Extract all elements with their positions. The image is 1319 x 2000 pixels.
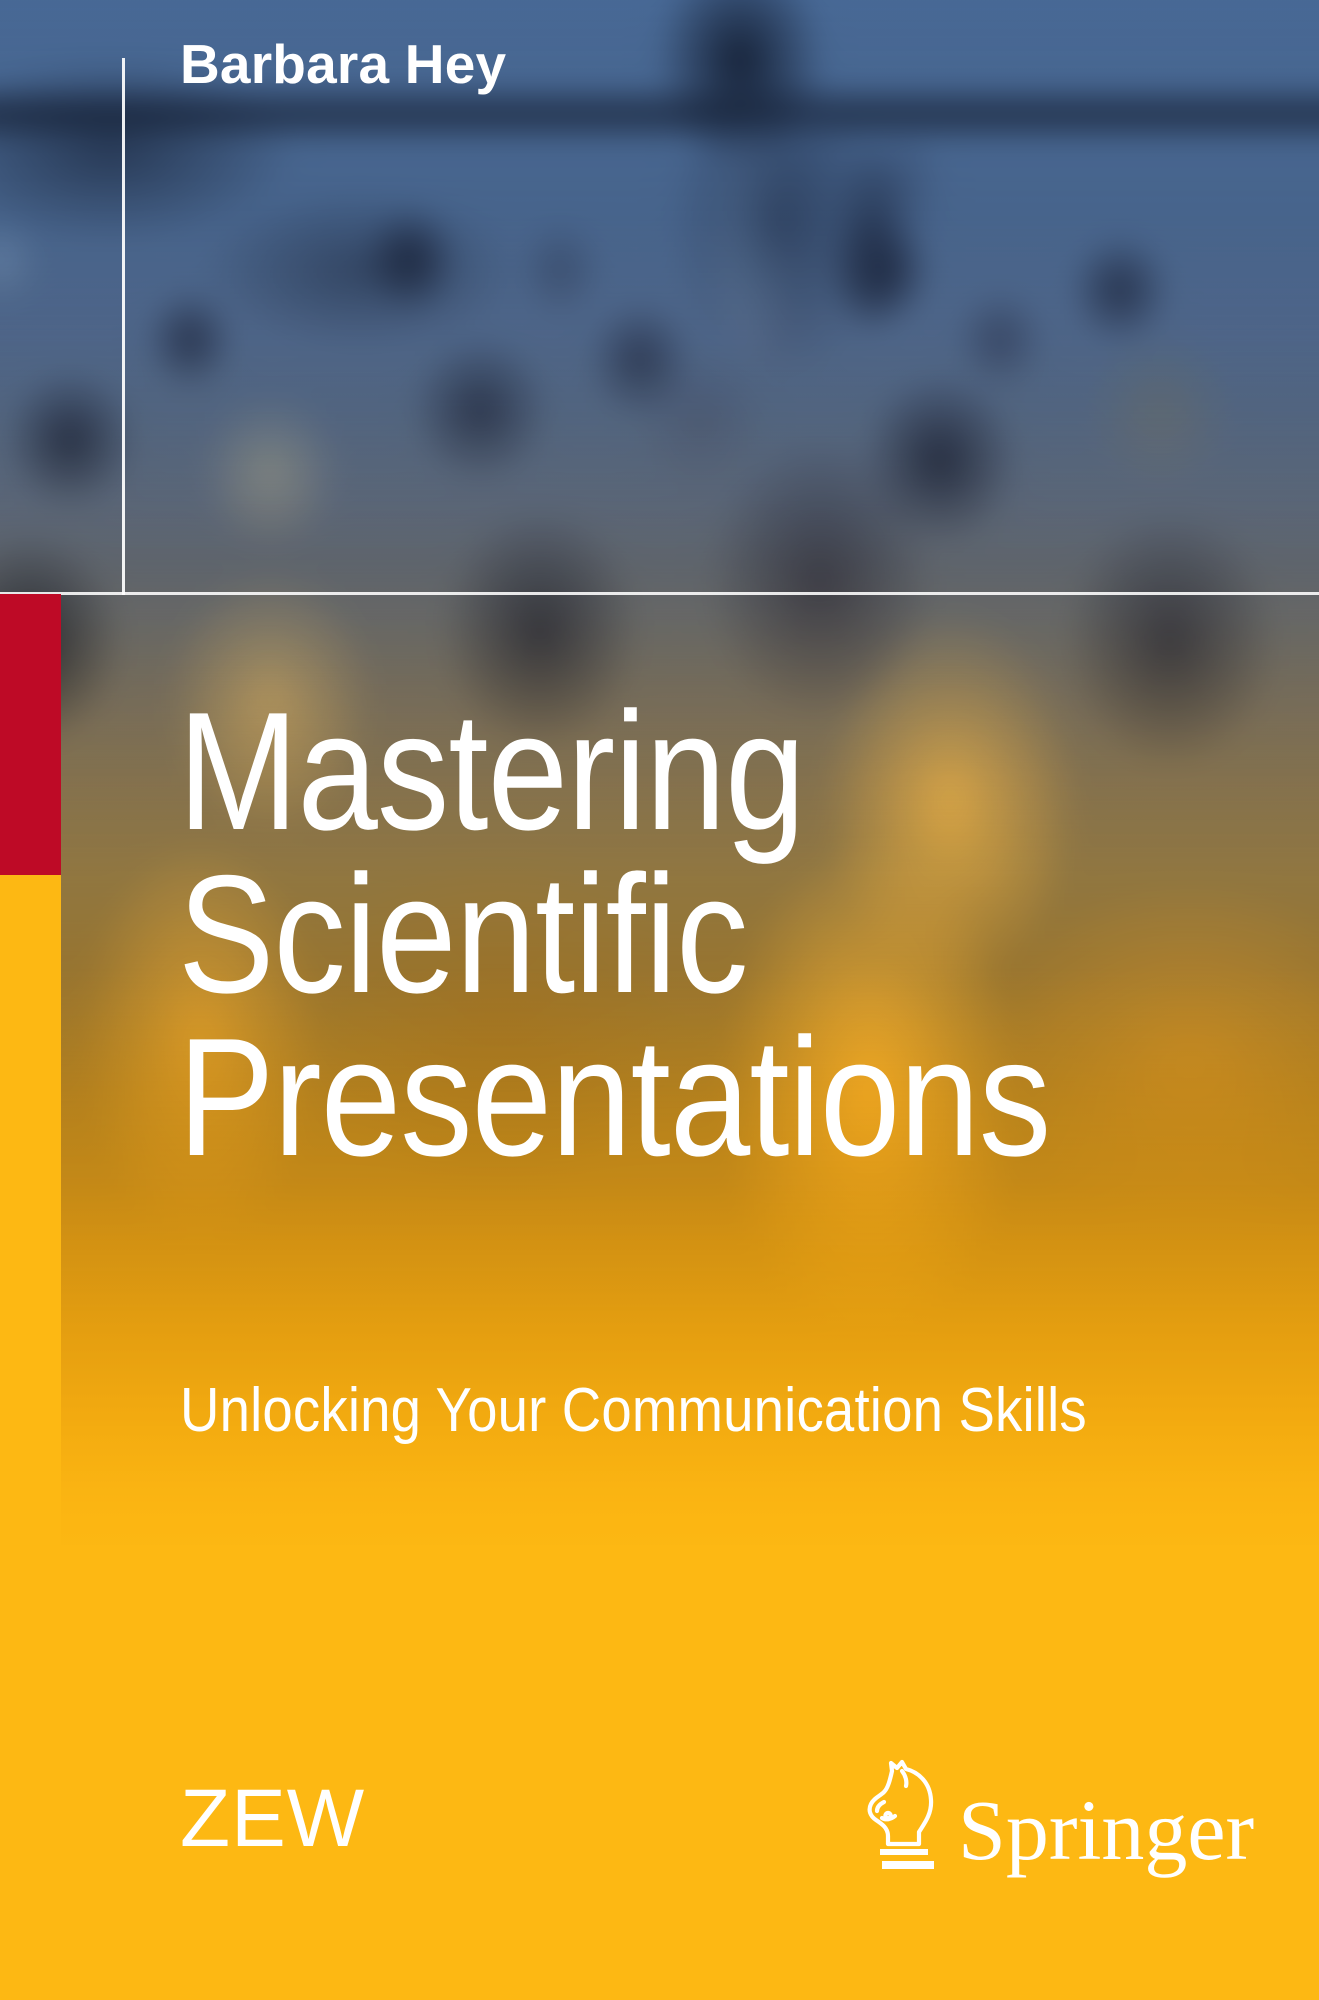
book-subtitle: Unlocking Your Communication Skills bbox=[180, 1375, 1087, 1446]
springer-logo: Springer bbox=[862, 1758, 1254, 1870]
book-cover: Barbara Hey Mastering Scientific Present… bbox=[0, 0, 1319, 2000]
springer-wordmark: Springer bbox=[958, 1791, 1254, 1870]
amber-accent-block bbox=[0, 875, 61, 2000]
red-accent-block bbox=[0, 594, 61, 875]
horizontal-rule bbox=[0, 592, 1319, 595]
springer-knight-icon bbox=[862, 1758, 940, 1870]
book-title: Mastering Scientific Presentations bbox=[178, 690, 1298, 1179]
title-line-1: Mastering bbox=[178, 690, 1141, 853]
vertical-rule bbox=[122, 58, 125, 595]
title-line-3: Presentations bbox=[178, 1016, 1141, 1179]
title-line-2: Scientific bbox=[178, 853, 1141, 1016]
author-name: Barbara Hey bbox=[180, 36, 506, 94]
zew-logo: ZEW bbox=[180, 1778, 365, 1860]
